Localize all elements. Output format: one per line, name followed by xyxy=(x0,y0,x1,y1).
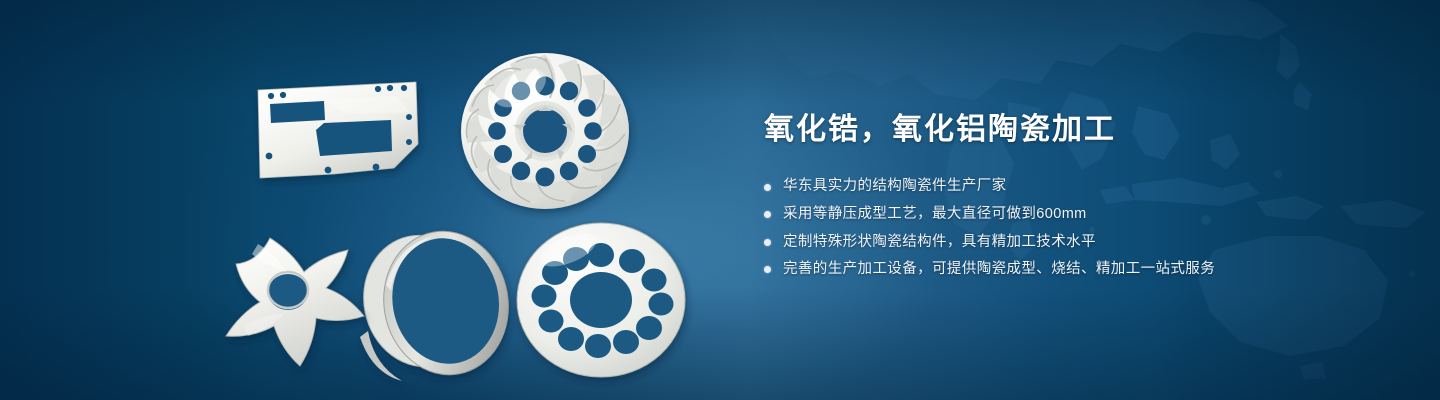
feature-item: 采用等静压成型工艺，最大直径可做到600mm xyxy=(764,205,1364,225)
feature-text: 华东具实力的结构陶瓷件生产厂家 xyxy=(783,177,1007,197)
ceramic-mounting-plate xyxy=(258,82,418,178)
ceramic-impeller-wheel xyxy=(461,53,629,209)
banner-copy: 氧化锆，氧化铝陶瓷加工 华东具实力的结构陶瓷件生产厂家 采用等静压成型工艺，最大… xyxy=(764,112,1364,288)
ceramic-ring xyxy=(352,221,520,384)
bullet-dot-icon xyxy=(764,211,771,218)
feature-text: 定制特殊形状陶瓷结构件，具有精加工技术水平 xyxy=(783,233,1096,253)
ceramic-perforated-flange xyxy=(517,223,685,377)
bullet-dot-icon xyxy=(764,184,771,191)
bullet-dot-icon xyxy=(764,266,771,273)
feature-item: 华东具实力的结构陶瓷件生产厂家 xyxy=(764,177,1364,197)
feature-text: 采用等静压成型工艺，最大直径可做到600mm xyxy=(783,205,1087,225)
feature-list: 华东具实力的结构陶瓷件生产厂家 采用等静压成型工艺，最大直径可做到600mm 定… xyxy=(764,177,1364,279)
product-photo-cluster xyxy=(228,38,698,383)
feature-text: 完善的生产加工设备，可提供陶瓷成型、烧结、精加工一站式服务 xyxy=(783,260,1215,280)
feature-item: 定制特殊形状陶瓷结构件，具有精加工技术水平 xyxy=(764,233,1364,253)
hero-banner: 氧化锆，氧化铝陶瓷加工 华东具实力的结构陶瓷件生产厂家 采用等静压成型工艺，最大… xyxy=(0,0,1440,400)
banner-headline: 氧化锆，氧化铝陶瓷加工 xyxy=(764,112,1364,147)
feature-item: 完善的生产加工设备，可提供陶瓷成型、烧结、精加工一站式服务 xyxy=(764,260,1364,280)
ceramic-cross-blade xyxy=(226,238,364,366)
bullet-dot-icon xyxy=(764,239,771,246)
